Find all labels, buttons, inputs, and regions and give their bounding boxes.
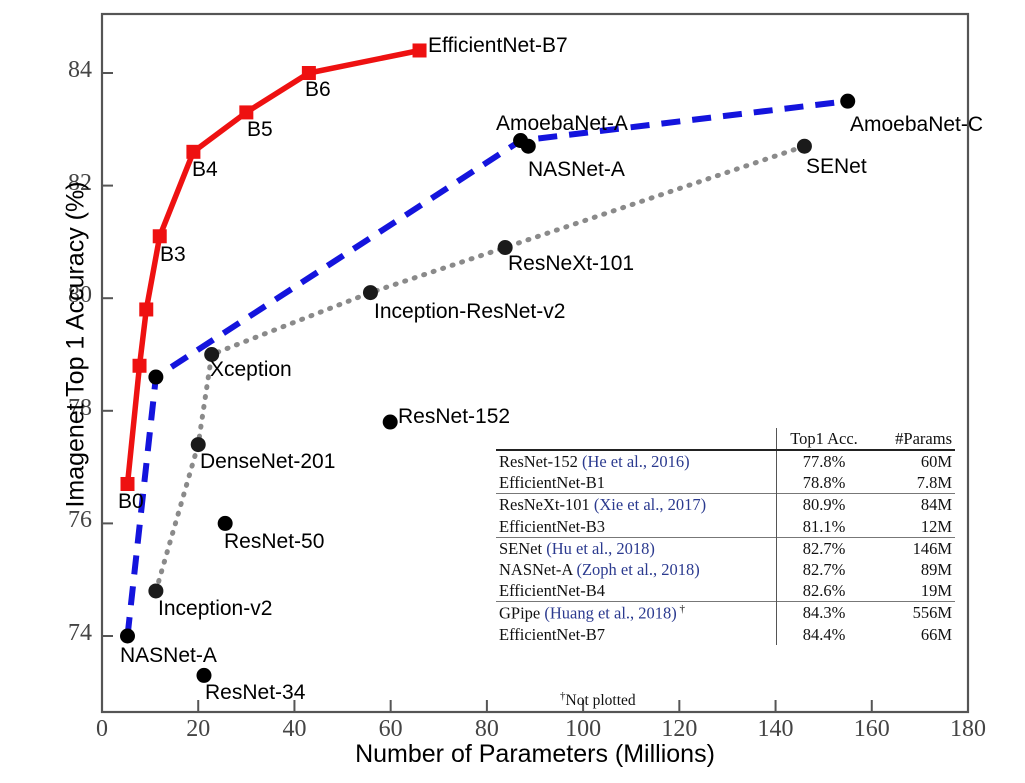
point-label: B4: [192, 158, 218, 182]
table-cell-acc: 82.7%: [777, 537, 872, 559]
table-cell-model: ResNeXt-101 (Xie et al., 2017): [496, 494, 777, 516]
table-cell-params: 19M: [871, 580, 955, 602]
table-cell-params: 60M: [871, 450, 955, 472]
table-cell-model: SENet (Hu et al., 2018): [496, 537, 777, 559]
table-header-row: Top1 Acc.#Params: [496, 428, 955, 450]
x-tick-label: 40: [276, 716, 312, 743]
point-label: ResNeXt-101: [508, 252, 634, 276]
x-tick-label: 160: [854, 716, 890, 743]
table-row: EfficientNet-B784.4%66M: [496, 624, 955, 645]
table-header-params: #Params: [871, 428, 955, 450]
table-row: EfficientNet-B482.6%19M: [496, 580, 955, 602]
table-cell-params: 12M: [871, 516, 955, 538]
point-label: B3: [160, 243, 186, 267]
table-cell-params: 66M: [871, 624, 955, 645]
table-row: SENet (Hu et al., 2018)82.7%146M: [496, 537, 955, 559]
point-label: Xception: [210, 358, 292, 382]
point-label: Inception-ResNet-v2: [374, 300, 565, 324]
x-tick-label: 20: [180, 716, 216, 743]
data-point: [218, 516, 233, 531]
point-label: EfficientNet-B7: [428, 34, 568, 58]
data-point: [840, 94, 855, 109]
table-row: EfficientNet-B178.8%7.8M: [496, 472, 955, 494]
comparison-table: Top1 Acc.#ParamsResNet-152 (He et al., 2…: [496, 428, 955, 645]
data-point: [797, 139, 812, 154]
point-label: NASNet-A: [528, 158, 625, 182]
data-point: [363, 285, 378, 300]
table-header-acc: Top1 Acc.: [777, 428, 872, 450]
x-tick-label: 60: [373, 716, 409, 743]
point-label: B5: [247, 118, 273, 142]
x-tick-label: 100: [565, 716, 601, 743]
data-point: [120, 477, 134, 491]
table-cell-acc: 78.8%: [777, 472, 872, 494]
table-row: ResNet-152 (He et al., 2016)77.8%60M: [496, 450, 955, 472]
table-cell-params: 556M: [871, 602, 955, 624]
table-footnote: †Not plotted: [560, 690, 636, 710]
table-row: ResNeXt-101 (Xie et al., 2017)80.9%84M: [496, 494, 955, 516]
table-cell-model: GPipe (Huang et al., 2018) †: [496, 602, 777, 624]
table-cell-acc: 81.1%: [777, 516, 872, 538]
point-label: B6: [305, 78, 331, 102]
citation: (Hu et al., 2018): [546, 539, 655, 558]
data-point: [383, 415, 398, 430]
x-tick-label: 120: [661, 716, 697, 743]
citation: (Zoph et al., 2018): [576, 560, 699, 579]
table-cell-params: 7.8M: [871, 472, 955, 494]
data-point: [133, 359, 147, 373]
summary-table: Top1 Acc.#ParamsResNet-152 (He et al., 2…: [496, 428, 955, 645]
table-cell-model: EfficientNet-B4: [496, 580, 777, 602]
table-cell-model: EfficientNet-B3: [496, 516, 777, 538]
x-tick-label: 180: [950, 716, 986, 743]
table-cell-model: ResNet-152 (He et al., 2016): [496, 450, 777, 472]
data-point: [139, 302, 153, 316]
point-label: NASNet-A: [120, 644, 217, 668]
table-cell-model: NASNet-A (Zoph et al., 2018): [496, 559, 777, 580]
chart-figure: 020406080100120140160180747678808284 B0B…: [0, 0, 1025, 783]
y-axis-label: Imagenet Top 1 Accuracy (%): [62, 165, 91, 525]
table-cell-params: 146M: [871, 537, 955, 559]
y-tick-label: 74: [56, 620, 92, 647]
citation: (Huang et al., 2018): [544, 604, 676, 623]
point-label: Inception-v2: [158, 597, 272, 621]
data-point: [413, 43, 427, 57]
data-point: [186, 145, 200, 159]
table-cell-params: 89M: [871, 559, 955, 580]
table-cell-acc: 77.8%: [777, 450, 872, 472]
table-cell-acc: 82.7%: [777, 559, 872, 580]
point-label: SENet: [806, 155, 867, 179]
point-label: AmoebaNet-C: [850, 113, 983, 137]
data-point: [148, 370, 163, 385]
table-row: EfficientNet-B381.1%12M: [496, 516, 955, 538]
table-row: NASNet-A (Zoph et al., 2018)82.7%89M: [496, 559, 955, 580]
table-row: GPipe (Huang et al., 2018) †84.3%556M: [496, 602, 955, 624]
table-header-blank: [496, 428, 777, 450]
table-cell-acc: 84.4%: [777, 624, 872, 645]
table-cell-model: EfficientNet-B1: [496, 472, 777, 494]
point-label: DenseNet-201: [200, 450, 335, 474]
table-cell-acc: 80.9%: [777, 494, 872, 516]
table-cell-model: EfficientNet-B7: [496, 624, 777, 645]
point-label: ResNet-50: [224, 530, 324, 554]
x-tick-label: 0: [84, 716, 120, 743]
x-tick-label: 140: [758, 716, 794, 743]
y-tick-label: 84: [56, 57, 92, 84]
series-line-0: [128, 51, 420, 485]
citation: (Xie et al., 2017): [594, 495, 706, 514]
point-label: ResNet-34: [205, 681, 305, 705]
point-label: AmoebaNet-A: [496, 112, 628, 136]
citation: (He et al., 2016): [582, 452, 690, 471]
dagger-marker: †: [677, 603, 685, 615]
data-point: [120, 629, 135, 644]
table-cell-acc: 84.3%: [777, 602, 872, 624]
table-cell-params: 84M: [871, 494, 955, 516]
point-label: B0: [118, 490, 144, 514]
x-axis-label: Number of Parameters (Millions): [102, 740, 968, 769]
data-point: [153, 229, 167, 243]
table-cell-acc: 82.6%: [777, 580, 872, 602]
x-tick-label: 80: [469, 716, 505, 743]
point-label: ResNet-152: [398, 405, 510, 429]
data-point: [521, 139, 536, 154]
